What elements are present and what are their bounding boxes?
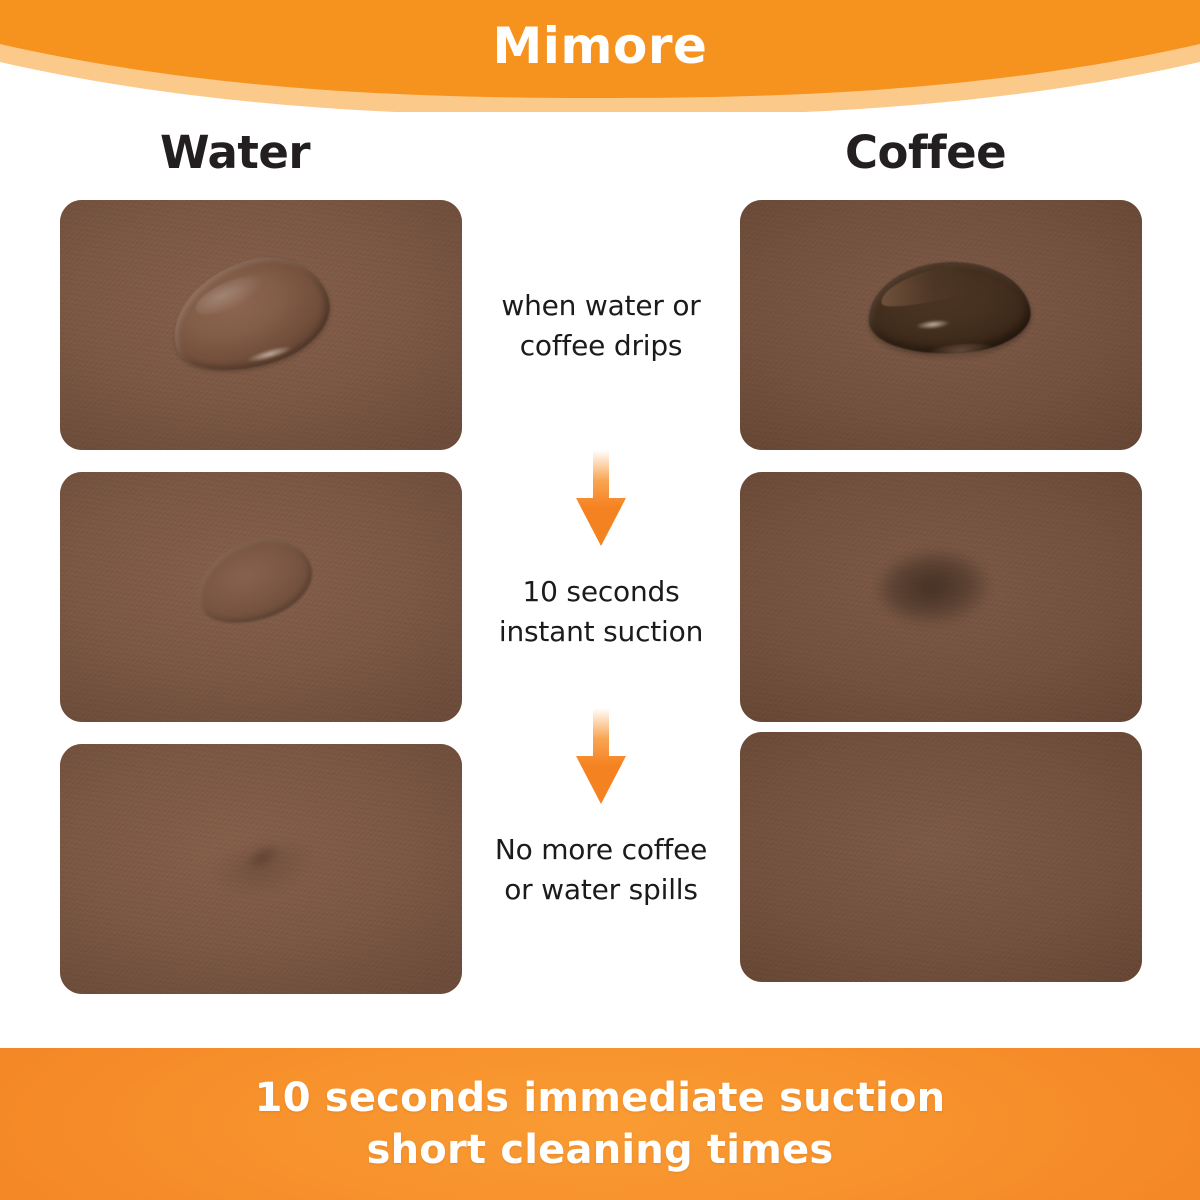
step-label-3: No more coffeeor water spills: [462, 830, 740, 910]
column-heading-coffee: Coffee: [845, 126, 1006, 179]
photo-panel-coffee-spill: [740, 200, 1142, 450]
header-banner: Mimore: [0, 0, 1200, 112]
footer-headline-line2: short cleaning times: [367, 1127, 834, 1173]
photo-panel-coffee-clean: [740, 732, 1142, 982]
steps-column: when water orcoffee drips 10 secondsinst…: [462, 200, 740, 1000]
surface-texture: [740, 732, 1142, 982]
arrow-down-icon: [571, 708, 631, 806]
footer-headline-line1: 10 seconds immediate suction: [255, 1075, 946, 1121]
footer-banner: 10 seconds immediate suction short clean…: [0, 1048, 1200, 1200]
comparison-section: Water Coffee when water orcoffee drips: [0, 112, 1200, 1048]
photo-panel-coffee-absorbing: [740, 472, 1142, 722]
brand-title: Mimore: [0, 0, 1200, 92]
photo-panel-water-clean: [60, 744, 462, 994]
step-arrow-2: [571, 708, 631, 806]
step-arrow-1: [571, 450, 631, 548]
step-label-1: when water orcoffee drips: [462, 286, 740, 366]
photo-panel-water-spill: [60, 200, 462, 450]
column-heading-water: Water: [160, 126, 310, 179]
step-label-2: 10 secondsinstant suction: [462, 572, 740, 652]
photo-panel-water-absorbing: [60, 472, 462, 722]
arrow-down-icon: [571, 450, 631, 548]
